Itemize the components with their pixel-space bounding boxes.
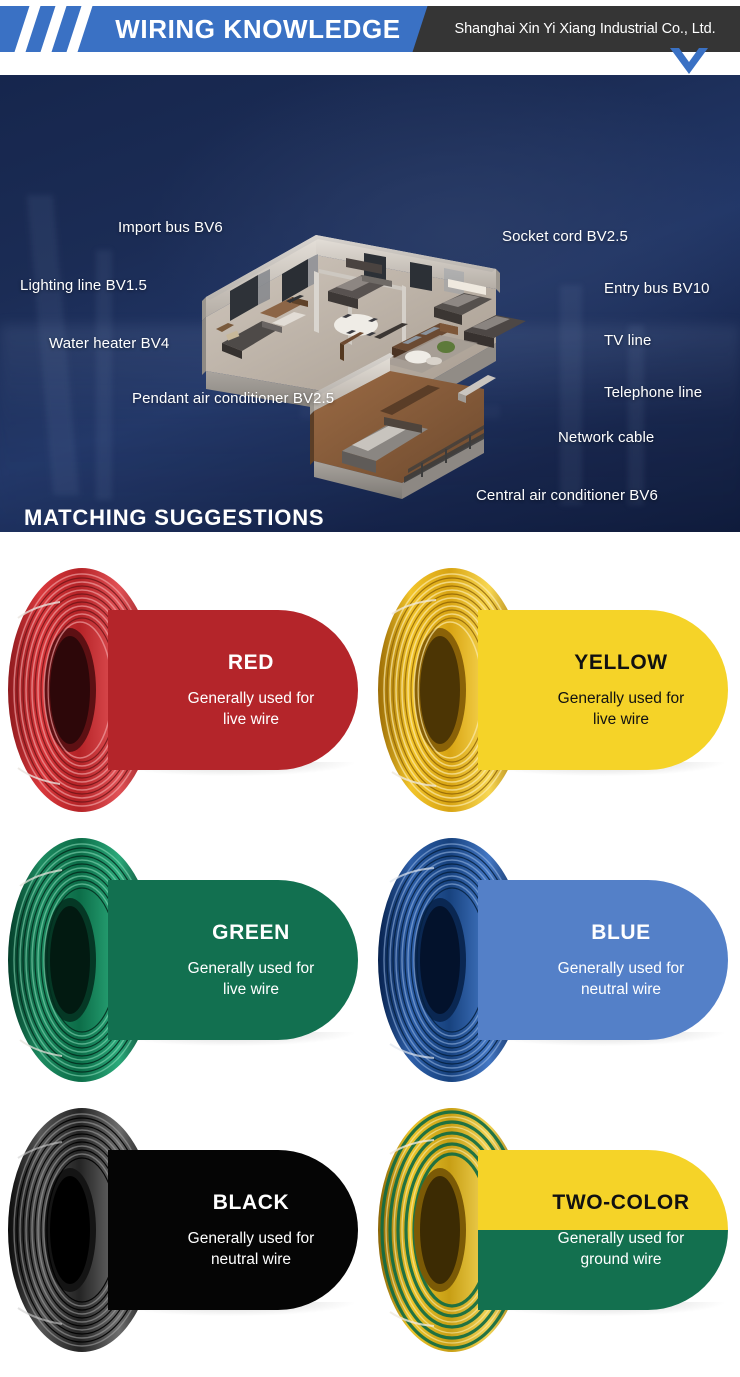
- hero-heading: MATCHING SUGGESTIONS: [24, 505, 324, 531]
- wire-usage-line2: live wire: [514, 709, 728, 730]
- wire-card-pill-blue: BLUE Generally used for neutral wire: [478, 880, 728, 1040]
- hero-label-tv-line: TV line: [604, 332, 651, 349]
- wire-usage-line2: neutral wire: [144, 1249, 358, 1270]
- wire-card-red: RED Generally used for live wire: [0, 556, 370, 826]
- wire-card-pill-green: GREEN Generally used for live wire: [108, 880, 358, 1040]
- hero-label-socket-cord: Socket cord BV2.5: [502, 228, 628, 245]
- page-header: WIRING KNOWLEDGE Shanghai Xin Yi Xiang I…: [0, 0, 740, 75]
- wire-usage-line2: ground wire: [514, 1249, 728, 1270]
- wire-card-pill-black: BLACK Generally used for neutral wire: [108, 1150, 358, 1310]
- wire-usage-line2: live wire: [144, 709, 358, 730]
- wire-usage-line1: Generally used for: [144, 688, 358, 709]
- hero-label-telephone-line: Telephone line: [604, 384, 702, 401]
- wire-usage-line1: Generally used for: [514, 688, 728, 709]
- wire-card-yellow: YELLOW Generally used for live wire: [370, 556, 740, 826]
- wire-usage-line2: neutral wire: [514, 979, 728, 1000]
- wire-card-green: GREEN Generally used for live wire: [0, 826, 370, 1096]
- wire-card-pill-two-color: TWO-COLOR Generally used for ground wire: [478, 1150, 728, 1310]
- wire-card-pill-red: RED Generally used for live wire: [108, 610, 358, 770]
- wire-usage-line1: Generally used for: [514, 958, 728, 979]
- hero-label-lighting-line: Lighting line BV1.5: [20, 277, 147, 294]
- apartment-floorplan-3d-render: [196, 225, 556, 515]
- wire-card-black: BLACK Generally used for neutral wire: [0, 1096, 370, 1366]
- chevron-down-icon: [670, 48, 708, 74]
- wire-color-name: RED: [144, 651, 358, 675]
- wire-usage-line1: Generally used for: [514, 1228, 728, 1249]
- wire-color-name: TWO-COLOR: [514, 1191, 728, 1215]
- wire-card-two-color: TWO-COLOR Generally used for ground wire: [370, 1096, 740, 1366]
- wire-color-name: YELLOW: [514, 651, 728, 675]
- wire-color-name: BLACK: [144, 1191, 358, 1215]
- wire-usage-line1: Generally used for: [144, 1228, 358, 1249]
- hero-label-network-cable: Network cable: [558, 429, 654, 446]
- wire-color-cards: RED Generally used for live wire: [0, 532, 740, 1377]
- company-name: Shanghai Xin Yi Xiang Industrial Co., Lt…: [440, 14, 730, 44]
- wire-usage-line2: live wire: [144, 979, 358, 1000]
- hero-label-water-heater: Water heater BV4: [49, 335, 169, 352]
- wire-card-blue: BLUE Generally used for neutral wire: [370, 826, 740, 1096]
- hero-section: Import bus BV6 Lighting line BV1.5 Water…: [0, 75, 740, 532]
- hero-label-import-bus: Import bus BV6: [118, 219, 223, 236]
- page-title: WIRING KNOWLEDGE: [108, 12, 408, 46]
- hero-label-pendant-air-conditioner: Pendant air conditioner BV2.5: [132, 390, 334, 407]
- infographic-page: WIRING KNOWLEDGE Shanghai Xin Yi Xiang I…: [0, 0, 740, 1377]
- wire-color-name: GREEN: [144, 921, 358, 945]
- hero-label-central-air-conditioner: Central air conditioner BV6: [476, 487, 658, 504]
- hero-label-entry-bus: Entry bus BV10: [604, 280, 710, 297]
- wire-card-pill-yellow: YELLOW Generally used for live wire: [478, 610, 728, 770]
- wire-color-name: BLUE: [514, 921, 728, 945]
- hero-bg-shape-3: [560, 285, 582, 505]
- hero-bg-shape-4: [628, 325, 644, 505]
- wire-usage-line1: Generally used for: [144, 958, 358, 979]
